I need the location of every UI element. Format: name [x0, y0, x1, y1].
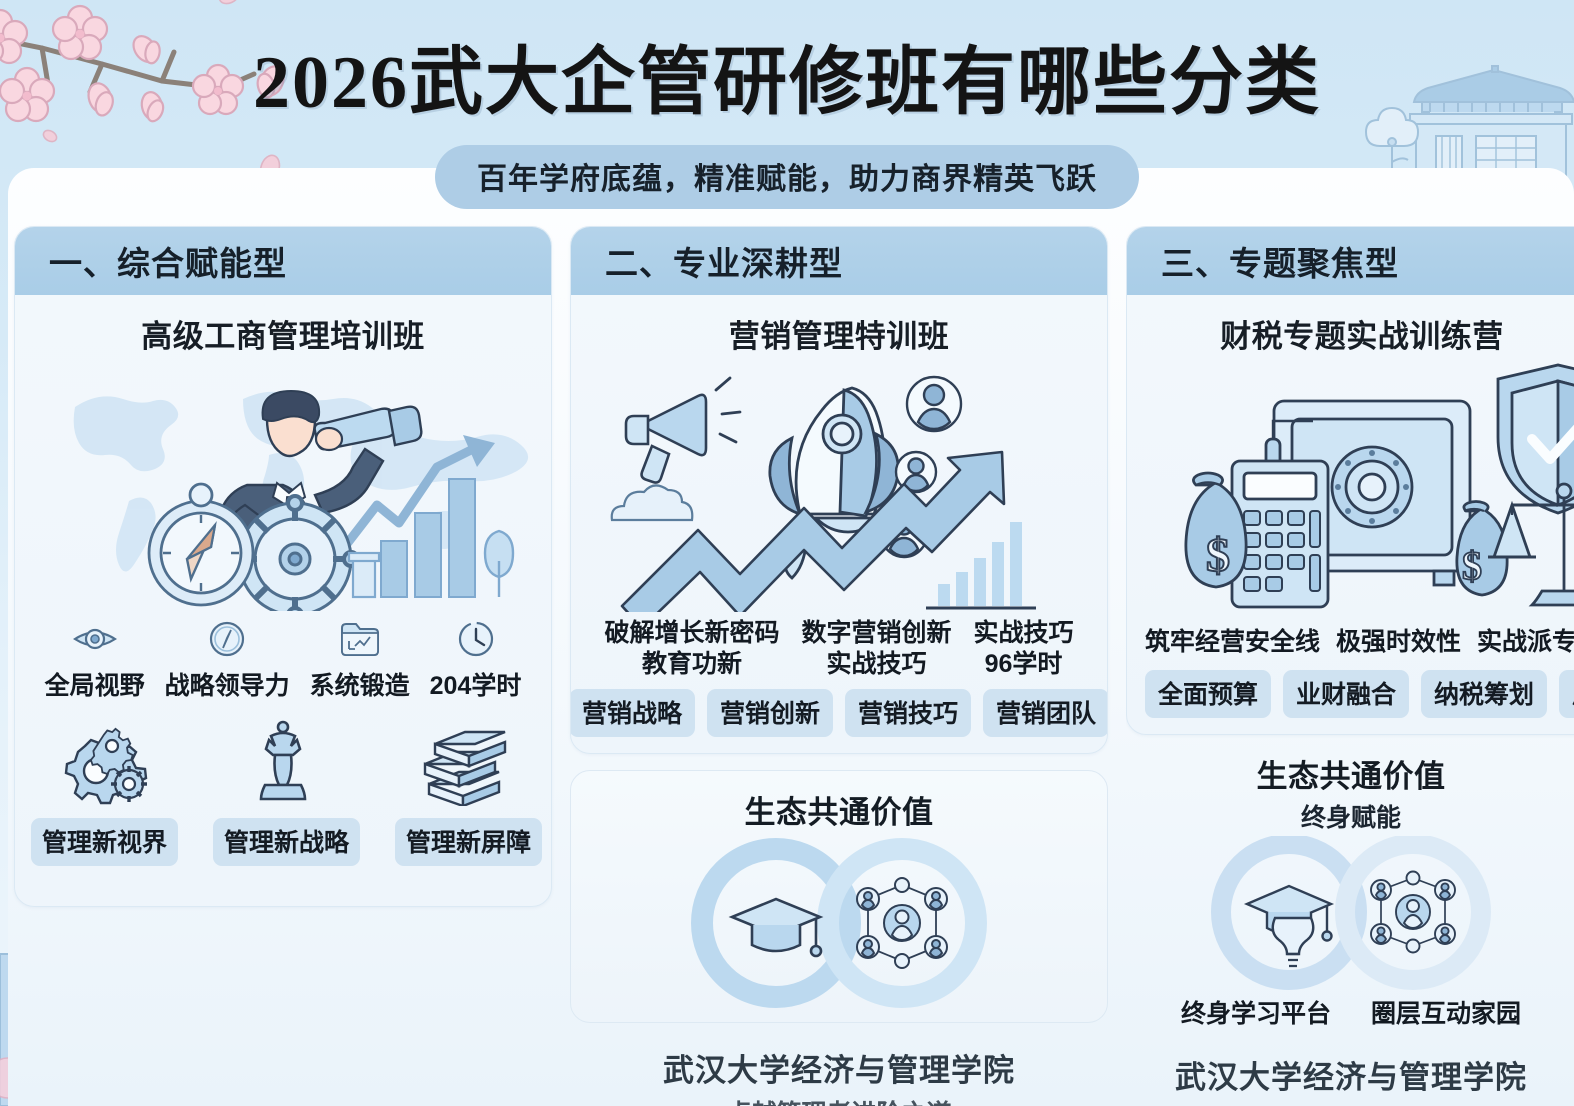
highlight-item[interactable]: 管理新战略 — [213, 718, 353, 866]
highlight-label: 管理新视界 — [31, 818, 178, 866]
tag-pill[interactable]: 营销团队 — [983, 689, 1108, 737]
ecosystem-labels: 终身学习平台 圈层互动家园 — [1126, 994, 1574, 1030]
feature-item[interactable]: 系统锻造 — [310, 616, 410, 702]
ecosystem-label-right: 圈层互动家园 — [1371, 994, 1521, 1030]
clock-icon — [430, 616, 522, 662]
page-header: 2026武大企管研修班有哪些分类 百年学府底蕴，精准赋能，助力商界精英飞跃 — [0, 0, 1574, 209]
tagline: 极强时效性 — [1336, 622, 1461, 658]
page-title: 2026武大企管研修班有哪些分类 — [0, 22, 1574, 129]
ecosystem-rings — [1126, 836, 1574, 994]
eye-icon — [45, 616, 145, 662]
category-column-3: 三、专题聚焦型 财税专题实战训练营 — [1126, 226, 1574, 1106]
category-column-1: 一、综合赋能型 高级工商管理培训班 — [14, 226, 552, 1106]
ecosystem-card-2: 生态共通价值 — [570, 770, 1108, 1023]
text-group-line1: 数字营销创新 — [801, 618, 951, 649]
text-group: 数字营销创新 实战技巧 — [801, 618, 951, 679]
tagline: 筑牢经营安全线 — [1145, 622, 1320, 658]
tag-pill[interactable]: 纳税筹划 — [1421, 670, 1547, 718]
feature-label: 战略领导力 — [165, 666, 290, 702]
ecosystem-block-3: 生态共通价值 终身赋能 — [1126, 751, 1574, 1030]
ecosystem-label-left: 终身学习平台 — [1181, 994, 1331, 1030]
feature-item[interactable]: 全局视野 — [45, 616, 145, 702]
gears-icon — [31, 718, 171, 806]
tag-pill[interactable]: 营销战略 — [570, 689, 695, 737]
text-group-row-2: 破解增长新密码 教育功新 数字营销创新 实战技巧 实战技巧 96学时 — [571, 612, 1107, 679]
text-group: 破解增长新密码 教育功新 — [604, 618, 779, 679]
highlight-label: 管理新战略 — [213, 818, 360, 866]
chess-queen-icon — [213, 718, 353, 806]
footer-slogan-text: 卓越管理者进阶之道 — [726, 1094, 951, 1106]
feature-label: 系统锻造 — [310, 666, 410, 702]
text-group-line1: 破解增长新密码 — [604, 618, 779, 649]
category-2-program-name: 营销管理特训班 — [571, 295, 1107, 362]
illustration-professional — [571, 362, 1107, 612]
footer-slogan-text: 卓越管理者进阶之道 — [1238, 1101, 1463, 1106]
footer-institution: 武汉大学经济与管理学院 — [1126, 1052, 1574, 1097]
main-panel: 一、综合赋能型 高级工商管理培训班 — [8, 168, 1574, 1106]
highlight-item[interactable]: 管理新视界 — [31, 718, 171, 866]
page-subtitle: 百年学府底蕴，精准赋能，助力商界精英飞跃 — [435, 145, 1139, 209]
tagline: 实战派专家 — [1477, 622, 1574, 658]
ecosystem-title: 生态共通价值 — [1126, 751, 1574, 796]
category-1-program-name: 高级工商管理培训班 — [15, 295, 551, 362]
network-people-icon — [1371, 872, 1455, 953]
category-column-2: 二、专业深耕型 营销管理特训班 — [570, 226, 1108, 1106]
text-group-line2: 实战技巧 — [801, 649, 951, 680]
footer-3: 武汉大学经济与管理学院 卓越管理者进阶之道 — [1126, 1052, 1574, 1106]
svg-text:$: $ — [1462, 543, 1482, 588]
category-card-thematic[interactable]: 三、专题聚焦型 财税专题实战训练营 — [1126, 226, 1574, 735]
category-3-heading: 三、专题聚焦型 — [1127, 227, 1574, 295]
highlight-row-1: 管理新视界 — [15, 702, 551, 866]
books-icon — [395, 718, 535, 806]
illustration-comprehensive — [15, 362, 551, 612]
ecosystem-title: 生态共通价值 — [571, 787, 1107, 832]
footer-2: 武汉大学经济与管理学院 卓越管理者进阶之道 — [570, 1045, 1108, 1106]
ecosystem-rings — [571, 834, 1107, 1012]
highlight-label: 管理新屏障 — [395, 818, 542, 866]
pill-row-3: 全面预算 业财融合 纳税筹划 风险管控 — [1127, 658, 1574, 734]
feature-label: 204学时 — [430, 666, 522, 702]
network-people-icon — [857, 878, 947, 968]
graduation-cap-bulb-icon — [1247, 886, 1332, 966]
highlight-item[interactable]: 管理新屏障 — [395, 718, 535, 866]
feature-item[interactable]: 战略领导力 — [165, 616, 290, 702]
tag-pill[interactable]: 风险管控 — [1559, 670, 1574, 718]
tag-pill[interactable]: 营销技巧 — [845, 689, 971, 737]
footer-slogan: 卓越管理者进阶之道 — [570, 1094, 1108, 1106]
graduation-cap-icon — [732, 899, 821, 956]
text-group-line2: 教育功新 — [604, 649, 779, 680]
category-2-heading: 二、专业深耕型 — [571, 227, 1107, 295]
text-group: 实战技巧 96学时 — [974, 618, 1074, 679]
tag-pill[interactable]: 全面预算 — [1145, 670, 1271, 718]
pill-row-2: 营销战略 营销创新 营销技巧 营销团队 — [571, 679, 1107, 753]
text-group-line2: 96学时 — [974, 649, 1074, 680]
category-1-heading: 一、综合赋能型 — [15, 227, 551, 295]
category-3-program-name: 财税专题实战训练营 — [1127, 295, 1574, 362]
tagline-row-3: 筑牢经营安全线 极强时效性 实战派专家 短期高效 — [1127, 612, 1574, 658]
tag-pill[interactable]: 业财融合 — [1283, 670, 1409, 718]
category-card-professional[interactable]: 二、专业深耕型 营销管理特训班 — [570, 226, 1108, 754]
folder-chart-icon — [310, 616, 410, 662]
category-card-comprehensive[interactable]: 一、综合赋能型 高级工商管理培训班 — [14, 226, 552, 907]
text-group-line1: 实战技巧 — [974, 618, 1074, 649]
feature-icon-row-1: 全局视野 战略领导力 — [15, 612, 551, 702]
compass-icon — [165, 616, 290, 662]
footer-institution: 武汉大学经济与管理学院 — [570, 1045, 1108, 1090]
tag-pill[interactable]: 营销创新 — [707, 689, 833, 737]
footer-slogan: 卓越管理者进阶之道 — [1126, 1101, 1574, 1106]
illustration-thematic: $ $ — [1127, 362, 1574, 612]
category-columns: 一、综合赋能型 高级工商管理培训班 — [8, 168, 1574, 1106]
feature-label: 全局视野 — [45, 666, 145, 702]
feature-item[interactable]: 204学时 — [430, 616, 522, 702]
svg-text:$: $ — [1206, 529, 1230, 582]
ecosystem-subtitle: 终身赋能 — [1126, 798, 1574, 834]
